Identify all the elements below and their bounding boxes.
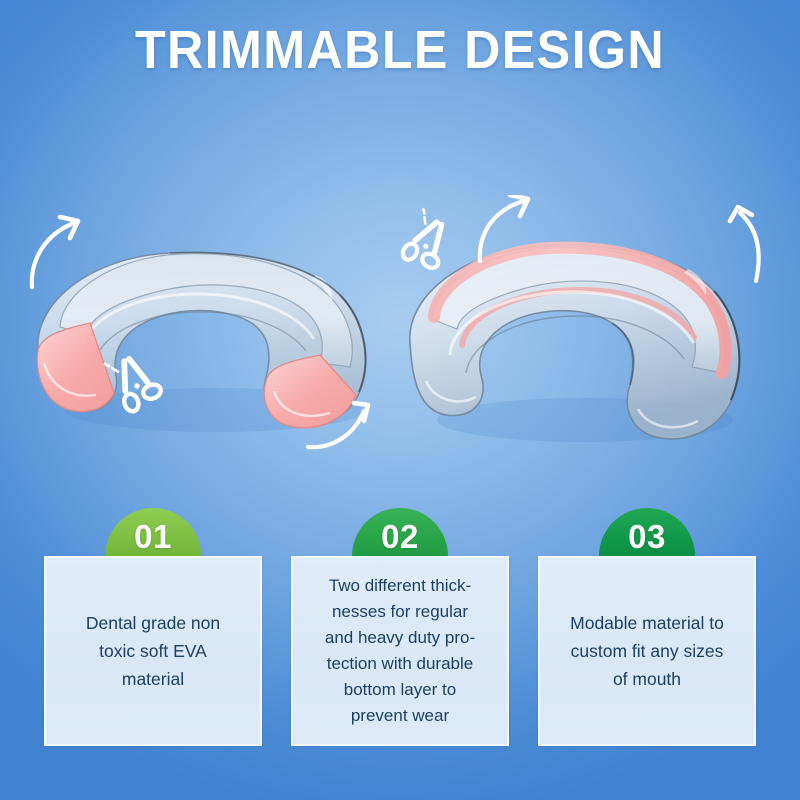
feature-card-02: 02 Two different thick- nesses for regul… [291, 508, 509, 758]
feature-card-01: 01 Dental grade non toxic soft EVA mater… [44, 508, 262, 758]
feature-card-body: Modable material to custom fit any sizes… [538, 556, 756, 746]
feature-text: Dental grade non toxic soft EVA material [78, 609, 228, 693]
feature-text: Modable material to custom fit any sizes… [562, 609, 732, 693]
badge-02: 02 [352, 508, 448, 556]
feature-card-body: Dental grade non toxic soft EVA material [44, 556, 262, 746]
product-image-right [400, 195, 800, 495]
badge-01: 01 [105, 508, 201, 556]
infographic-poster: TRIMMABLE DESIGN [0, 0, 800, 800]
badge-number: 02 [381, 519, 419, 556]
curved-arrow-up-right [730, 207, 759, 281]
badge-number: 03 [628, 519, 666, 556]
product-image-row [0, 195, 800, 495]
feature-text: Two different thick- nesses for regular … [317, 573, 483, 729]
badge-03: 03 [599, 508, 695, 556]
mouthguard-pink-rim-illustration [400, 195, 800, 495]
product-image-left [20, 195, 420, 495]
curved-arrow-up-left [32, 217, 78, 287]
feature-card-body: Two different thick- nesses for regular … [291, 556, 509, 746]
feature-card-row: 01 Dental grade non toxic soft EVA mater… [0, 508, 800, 768]
mouthguard-pink-tips-illustration [20, 195, 420, 495]
badge-number: 01 [134, 519, 172, 556]
scissors-icon [400, 209, 459, 275]
page-title: TRIMMABLE DESIGN [28, 18, 772, 82]
feature-card-03: 03 Modable material to custom fit any si… [538, 508, 756, 758]
